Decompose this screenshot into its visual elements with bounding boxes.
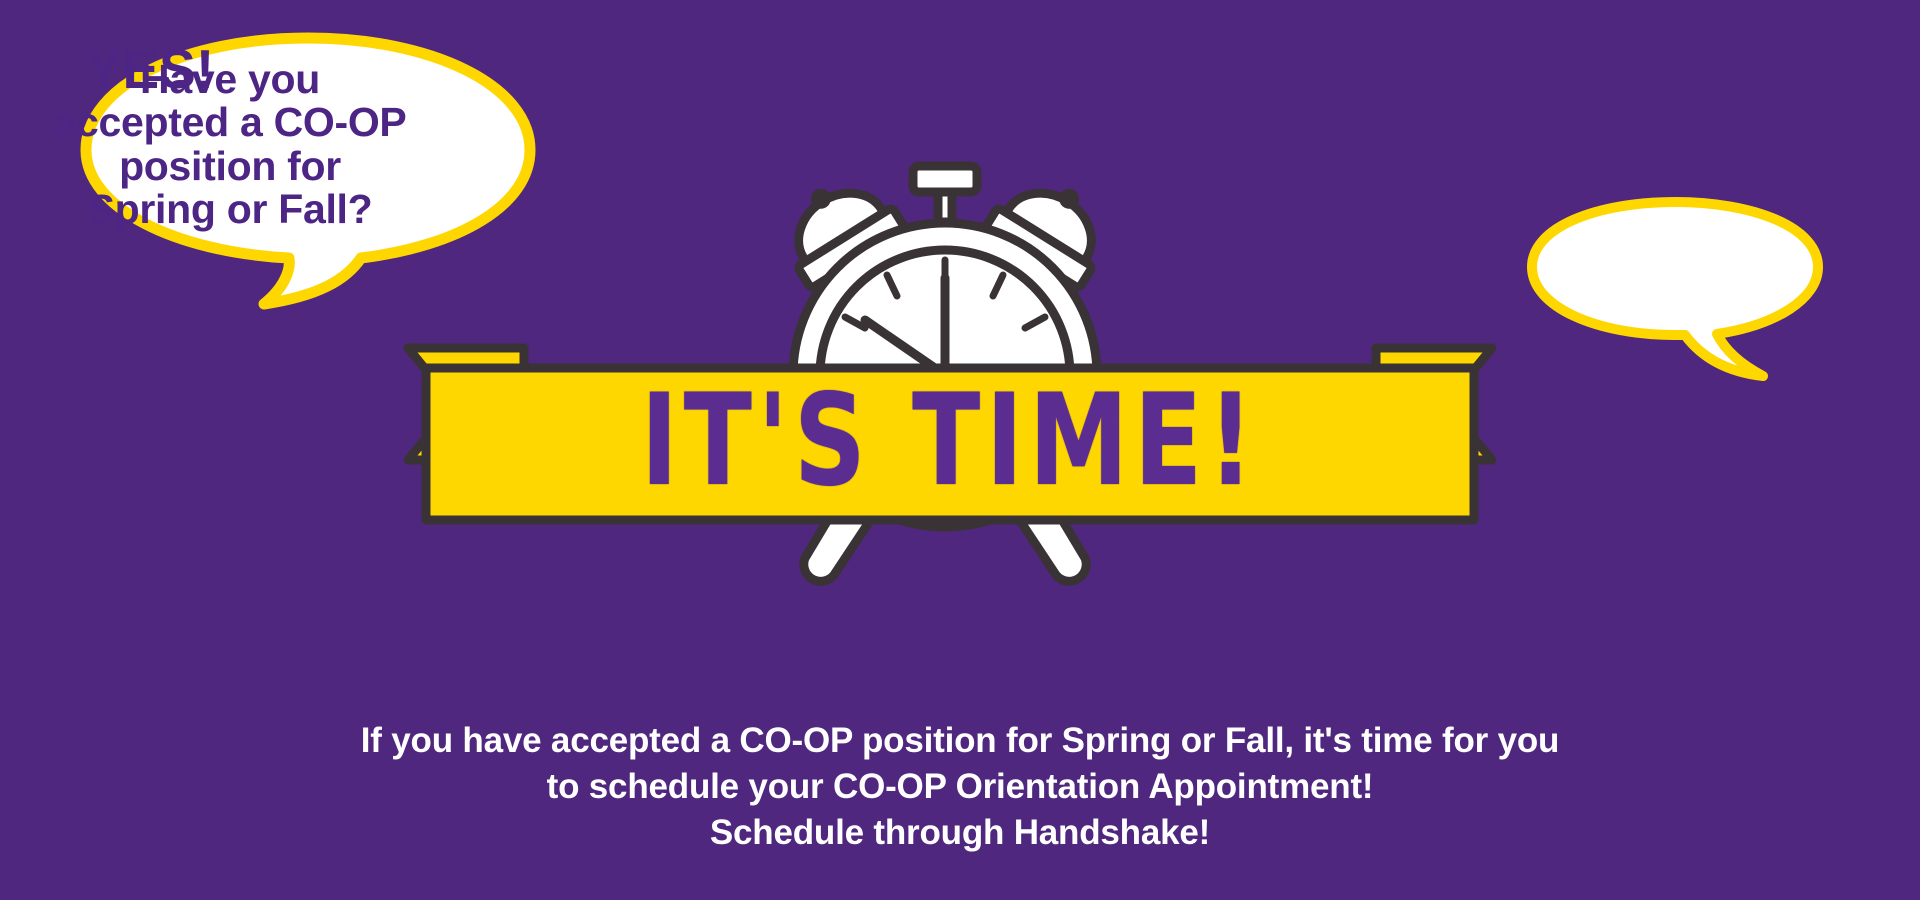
caption-text: If you have accepted a CO-OP position fo… [0,718,1920,856]
speech-bubble-question-shape [86,38,530,304]
ribbon-banner [400,340,1500,540]
poster-canvas: IT'S TIME! Have you accepted a CO-OP pos… [0,0,1920,900]
speech-bubble-question [78,30,538,310]
speech-bubble-answer [1525,195,1825,385]
ribbon-center [426,368,1474,520]
clock-top-button [913,166,977,192]
speech-bubble-answer-shape [1532,202,1818,376]
